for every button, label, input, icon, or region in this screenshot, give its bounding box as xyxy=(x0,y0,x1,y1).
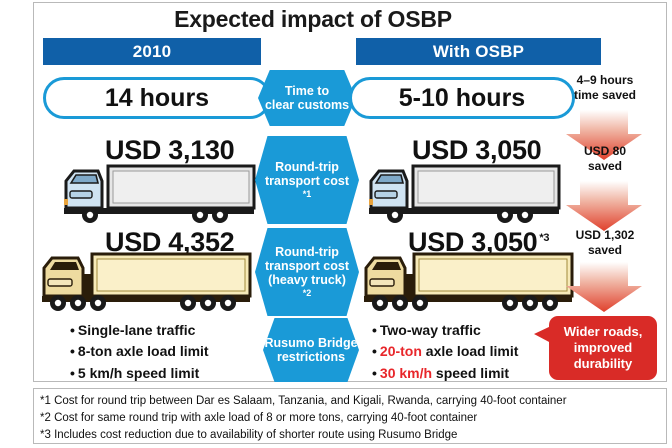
infographic-root: Expected impact of OSBP 2010 With OSBP 1… xyxy=(0,0,672,448)
row2-saving-line1: USD 80 xyxy=(562,144,648,159)
page-title: Expected impact of OSBP xyxy=(33,6,593,33)
row3-saving-line2: saved xyxy=(558,243,652,258)
list-item-text: Two-way traffic xyxy=(380,322,481,338)
list-item: •30 km/h speed limit xyxy=(372,363,518,384)
footnote-2: *2 Cost for same round trip with axle lo… xyxy=(40,410,660,427)
row3-center-label-line3: (heavy truck) xyxy=(268,273,346,287)
row1-left-value-pill: 14 hours xyxy=(43,77,271,119)
list-item-text: 8-ton axle load limit xyxy=(78,343,209,359)
row2-center-label: Round-trip transport cost *1 xyxy=(255,136,359,224)
row1-center-label-line2: clear customs xyxy=(265,98,349,112)
bullet-icon: • xyxy=(70,365,75,381)
row1-saving-label: 4–9 hours time saved xyxy=(562,73,648,103)
bullet-icon: • xyxy=(70,322,75,338)
down-arrow-icon-2 xyxy=(566,181,642,231)
truck-icon-heavy-right xyxy=(360,252,582,314)
row2-left-value: USD 3,130 xyxy=(105,135,234,166)
row1-saving-line2: time saved xyxy=(562,88,648,103)
list-item-highlight: 30 km/h xyxy=(380,365,432,381)
footnote-1: *1 Cost for round trip between Dar es Sa… xyxy=(40,393,660,410)
row1-right-value: 5-10 hours xyxy=(399,84,525,113)
list-item-highlight: 20-ton xyxy=(380,343,422,359)
row2-center-label-line2: transport cost xyxy=(265,174,349,188)
list-item: •Single-lane traffic xyxy=(70,320,209,341)
callout-line3: durability xyxy=(574,356,633,372)
row3-center-label: Round-trip transport cost (heavy truck) … xyxy=(255,228,359,316)
row3-center-label-line2: transport cost xyxy=(265,259,349,273)
truck-icon-light-left xyxy=(60,163,260,225)
restrictions-center-label-line1: Rusumo Bridge xyxy=(264,336,357,350)
column-header-left: 2010 xyxy=(43,38,261,65)
restrictions-left-list: •Single-lane traffic •8-ton axle load li… xyxy=(70,320,209,384)
row3-saving-label: USD 1,302 saved xyxy=(558,228,652,258)
row3-center-label-line1: Round-trip xyxy=(275,245,339,259)
column-header-left-label: 2010 xyxy=(133,42,172,62)
row2-saving-line2: saved xyxy=(562,159,648,174)
bullet-icon: • xyxy=(70,343,75,359)
restrictions-right-list: •Two-way traffic •20-ton axle load limit… xyxy=(372,320,518,384)
row2-saving-label: USD 80 saved xyxy=(562,144,648,174)
list-item: •8-ton axle load limit xyxy=(70,341,209,362)
restrictions-center-label-line2: restrictions xyxy=(277,350,345,364)
bullet-icon: • xyxy=(372,365,377,381)
callout-line1: Wider roads, xyxy=(564,324,643,340)
list-item: •20-ton axle load limit xyxy=(372,341,518,362)
row3-center-footnote: *2 xyxy=(303,288,312,299)
row1-right-value-pill: 5-10 hours xyxy=(349,77,575,119)
list-item: •5 km/h speed limit xyxy=(70,363,209,384)
row2-center-footnote: *1 xyxy=(303,189,312,200)
bullet-icon: • xyxy=(372,322,377,338)
list-item-text: speed limit xyxy=(432,365,509,381)
row1-saving-line1: 4–9 hours xyxy=(562,73,648,88)
restrictions-center-label: Rusumo Bridge restrictions xyxy=(263,318,359,382)
row3-right-value-footnote: *3 xyxy=(539,232,549,244)
truck-icon-light-right xyxy=(365,163,565,225)
column-header-right: With OSBP xyxy=(356,38,601,65)
down-arrow-icon-3 xyxy=(566,262,642,312)
row1-left-value: 14 hours xyxy=(105,84,209,113)
list-item: •Two-way traffic xyxy=(372,320,518,341)
row3-saving-line1: USD 1,302 xyxy=(558,228,652,243)
footnotes: *1 Cost for round trip between Dar es Sa… xyxy=(40,393,660,444)
footnote-3: *3 Includes cost reduction due to availa… xyxy=(40,427,660,444)
column-header-right-label: With OSBP xyxy=(433,42,524,62)
restrictions-callout: Wider roads, improved durability xyxy=(549,316,657,380)
row1-center-label-line1: Time to xyxy=(285,84,329,98)
list-item-text: axle load limit xyxy=(422,343,518,359)
list-item-text: 5 km/h speed limit xyxy=(78,365,199,381)
callout-line2: improved xyxy=(574,340,633,356)
row2-right-value: USD 3,050 xyxy=(412,135,541,166)
truck-icon-heavy-left xyxy=(38,252,260,314)
bullet-icon: • xyxy=(372,343,377,359)
list-item-text: Single-lane traffic xyxy=(78,322,195,338)
row1-center-label: Time to clear customs xyxy=(258,70,356,126)
row2-center-label-line1: Round-trip xyxy=(275,160,339,174)
